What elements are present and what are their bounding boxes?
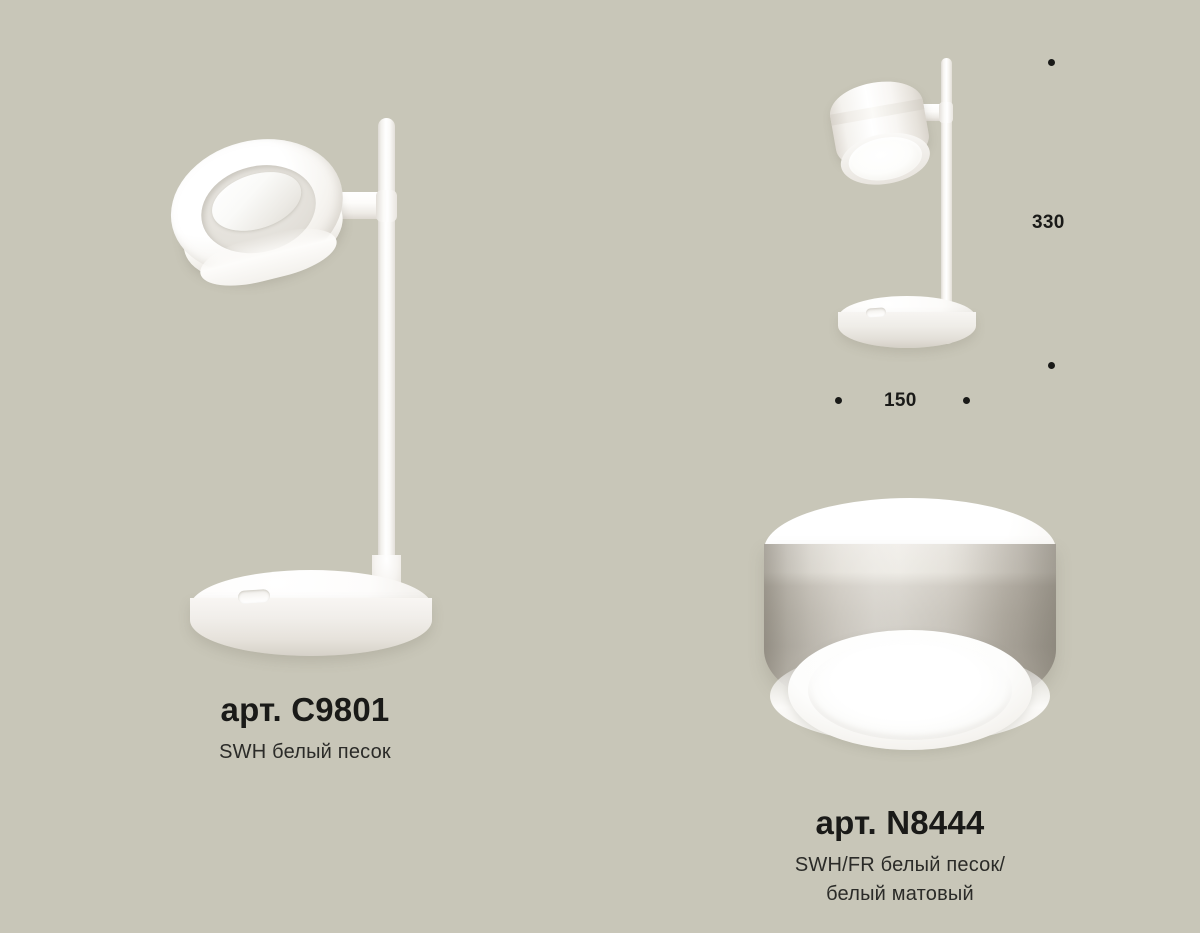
dim-lamp-base-switch <box>866 307 887 317</box>
article-description-c9801: SWH белый песок <box>105 738 505 767</box>
cylinder-downlight-product-image <box>760 498 1060 760</box>
dimension-label-width: 150 <box>884 390 917 412</box>
table-lamp-dimension-drawing <box>820 50 1000 370</box>
product-catalog-page: арт. C9801 SWH белый песок 330 150 <box>0 0 1200 933</box>
dim-lamp-base-side <box>838 312 976 348</box>
dimension-dot-width-left <box>835 397 842 404</box>
lamp-base-side <box>190 598 432 656</box>
dimension-dot-height-top <box>1048 59 1055 66</box>
lamp-head <box>156 121 363 309</box>
downlight-diffuser <box>808 640 1012 740</box>
lamp-arm-collar <box>376 190 397 222</box>
article-code-n8444: арт. N8444 <box>700 805 1100 841</box>
lamp-base-switch <box>238 589 271 604</box>
dim-lamp-arm-collar <box>939 102 953 123</box>
dimension-label-height: 330 <box>1032 212 1065 234</box>
dim-lamp-head <box>821 70 943 198</box>
table-lamp-product-image <box>150 100 490 660</box>
dimension-dot-width-right <box>963 397 970 404</box>
dimension-dot-height-bottom <box>1048 362 1055 369</box>
article-description-n8444: SWH/FR белый песок/ белый матовый <box>700 851 1100 909</box>
caption-n8444: арт. N8444 SWH/FR белый песок/ белый мат… <box>700 805 1100 909</box>
article-code-c9801: арт. C9801 <box>105 692 505 728</box>
caption-c9801: арт. C9801 SWH белый песок <box>105 692 505 767</box>
